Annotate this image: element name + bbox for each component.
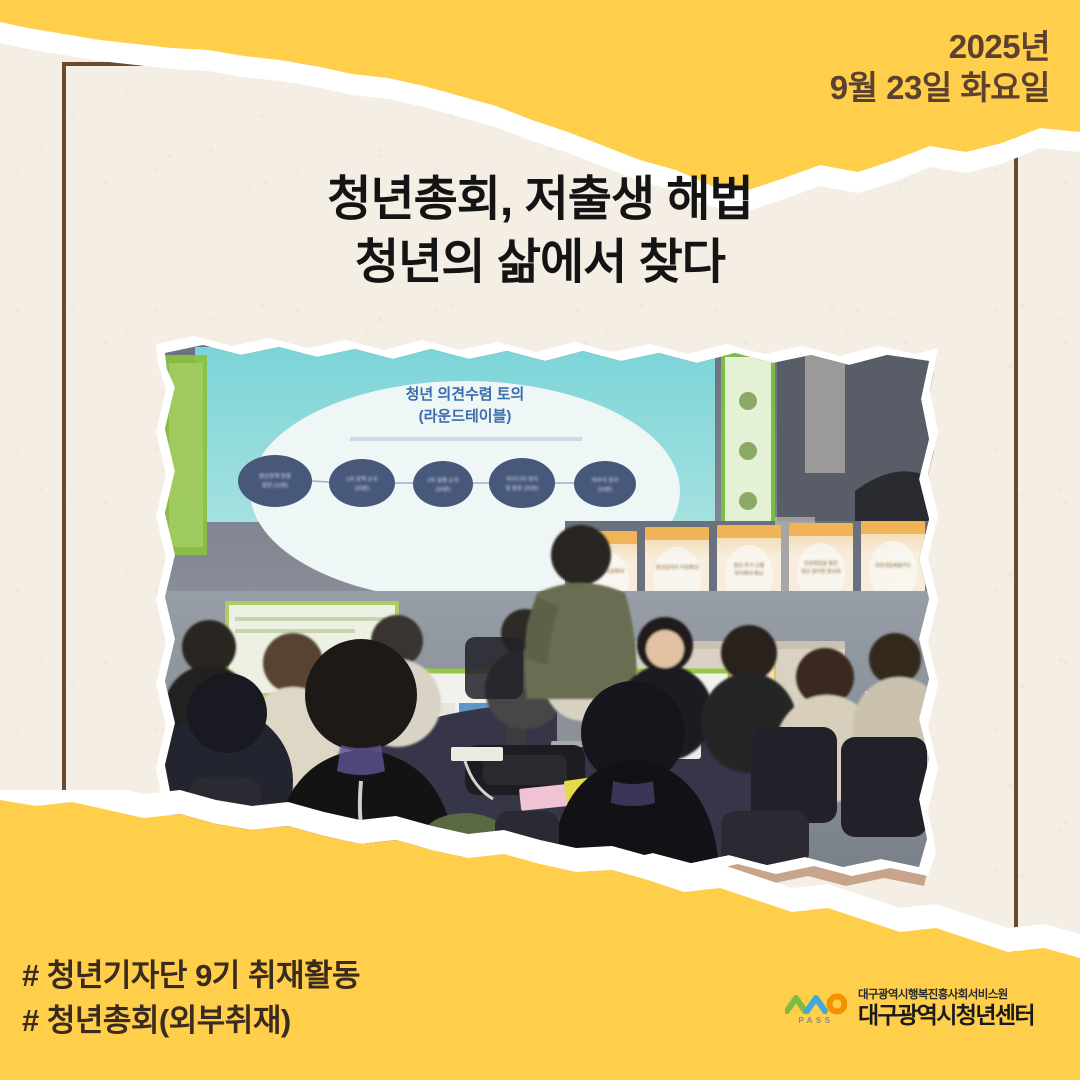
hashtag-item: # 청년기자단 9기 취재활동 <box>22 954 360 999</box>
date-block: 2025년 9월 23일 화요일 <box>830 26 1050 109</box>
hashtag-item: # 청년총회(외부취재) <box>22 999 360 1044</box>
title-line-1: 청년총회, 저출생 해법 <box>0 168 1080 231</box>
page-title: 청년총회, 저출생 해법 청년의 삶에서 찾다 <box>0 168 1080 295</box>
logo-main-title: 대구광역시청년센터 <box>858 1003 1034 1028</box>
card-news-canvas: 청년 의견수렴 토의 (라운드테이블) 청년정책 방향설정 (10분) 1차 정… <box>0 0 1080 1080</box>
pass-logo-mark: PASS <box>785 993 847 1025</box>
event-photo: 청년 의견수렴 토의 (라운드테이블) 청년정책 방향설정 (10분) 1차 정… <box>165 341 929 867</box>
logo-subtitle: 대구광역시행복진흥사회서비스원 <box>858 989 1034 1002</box>
organization-logo: PASS 대구광역시행복진흥사회서비스원 대구광역시청년센터 <box>785 989 1034 1028</box>
date-year: 2025년 <box>830 26 1050 67</box>
title-line-2: 청년의 삶에서 찾다 <box>0 231 1080 294</box>
pass-logo-text: PASS <box>798 1016 833 1025</box>
date-day: 9월 23일 화요일 <box>830 67 1050 108</box>
logo-text-block: 대구광역시행복진흥사회서비스원 대구광역시청년센터 <box>858 989 1034 1028</box>
photo-stack: 청년 의견수렴 토의 (라운드테이블) 청년정책 방향설정 (10분) 1차 정… <box>150 326 940 886</box>
hashtag-block: # 청년기자단 9기 취재활동 # 청년총회(외부취재) <box>22 954 360 1044</box>
pass-symbol-icon <box>785 993 847 1015</box>
